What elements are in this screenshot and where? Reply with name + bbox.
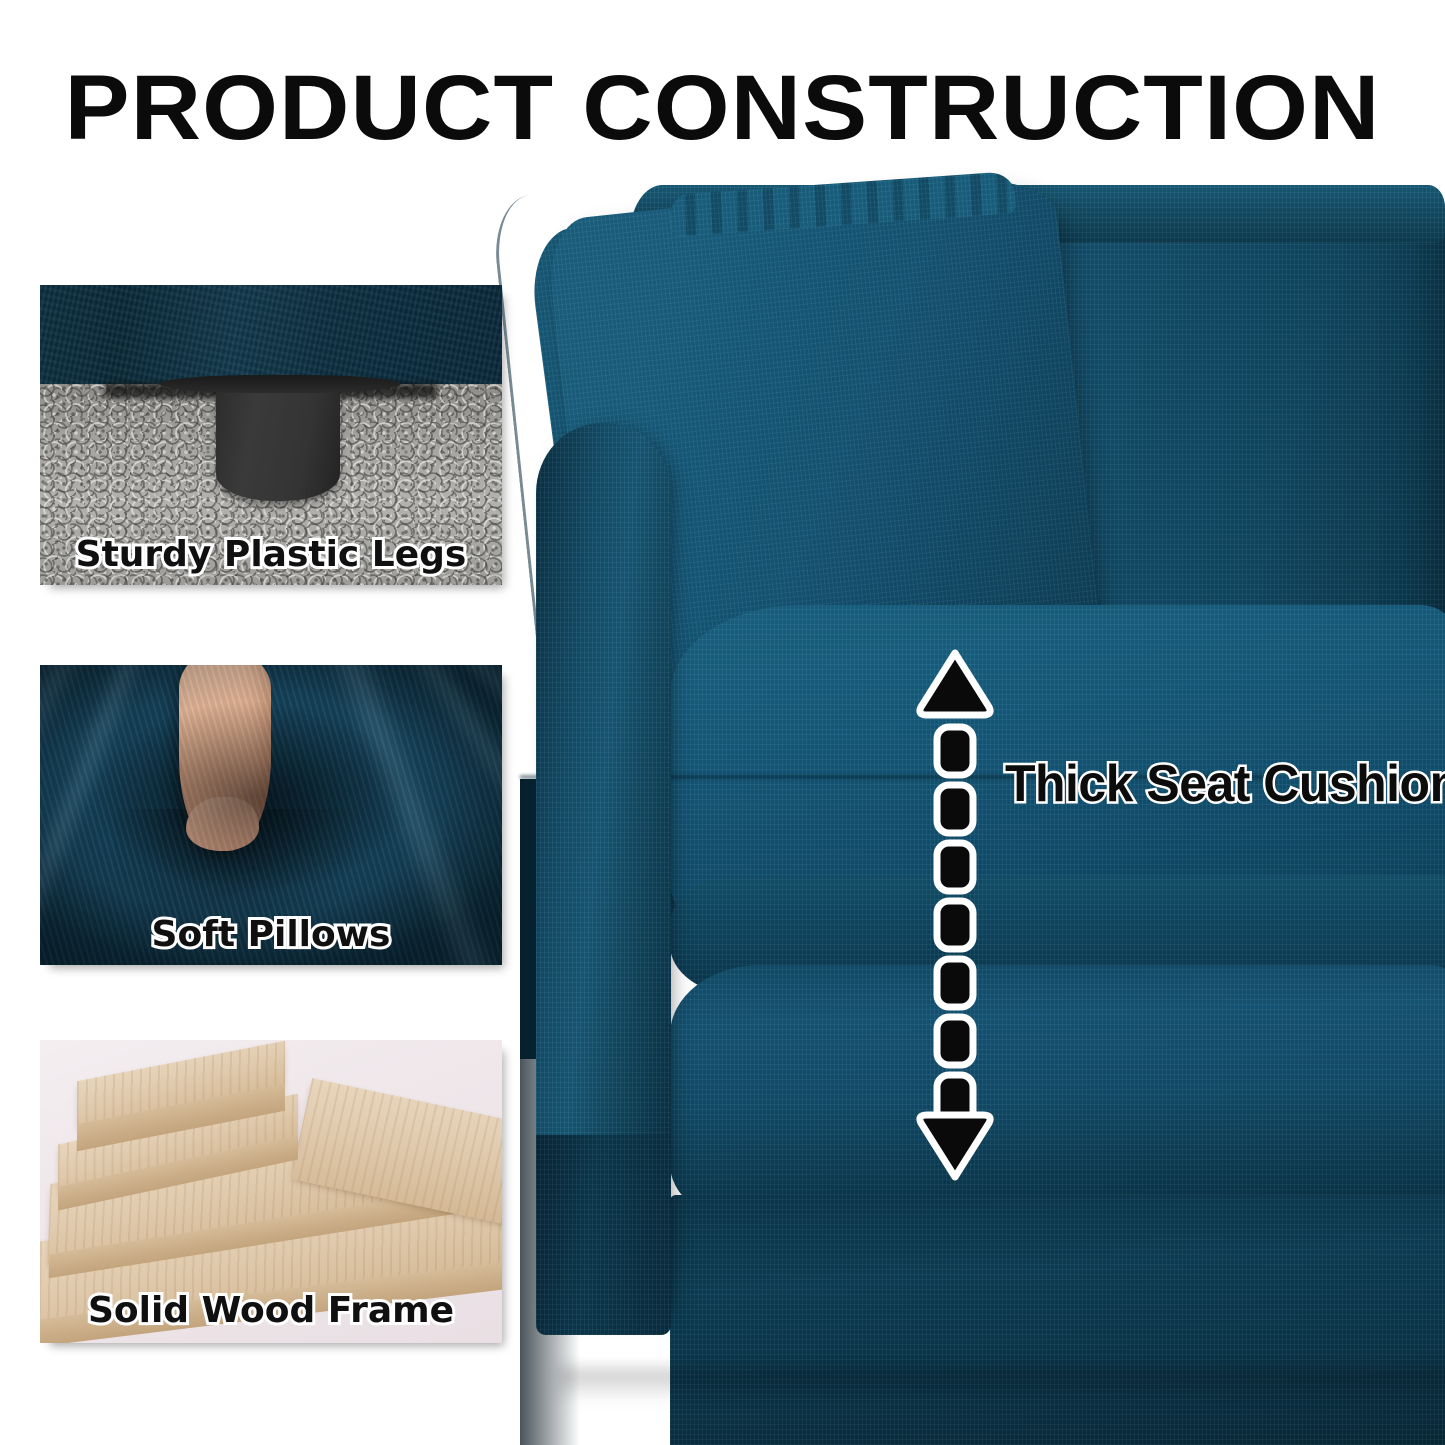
infographic-canvas: PRODUCT CONSTRUCTION Sturdy Plastic Legs…: [0, 0, 1445, 1445]
feature-card-sturdy-plastic-legs[interactable]: Sturdy Plastic Legs: [40, 285, 502, 585]
sofa-floor-shadow: [560, 1368, 1445, 1402]
seat-base-roll: [670, 965, 1445, 1220]
feature-caption-soft-pillows: Soft Pillows: [40, 914, 502, 955]
thick-seat-cushions-label: Thick Seat Cushions: [1005, 758, 1445, 810]
feature-caption-solid-wood-frame: Solid Wood Frame: [40, 1290, 502, 1331]
feature-card-soft-pillows[interactable]: Soft Pillows: [40, 665, 502, 965]
sofa-arm-front-edge: [536, 1135, 671, 1335]
sofa-plinth: [670, 1195, 1445, 1445]
thickness-arrow-icon: [915, 645, 995, 1185]
plastic-leg: [216, 378, 341, 501]
feature-caption-sturdy-plastic-legs: Sturdy Plastic Legs: [40, 534, 502, 575]
plastic-leg-top: [160, 375, 400, 393]
page-title: PRODUCT CONSTRUCTION: [0, 62, 1445, 154]
feature-card-solid-wood-frame[interactable]: Solid Wood Frame: [40, 1040, 502, 1343]
